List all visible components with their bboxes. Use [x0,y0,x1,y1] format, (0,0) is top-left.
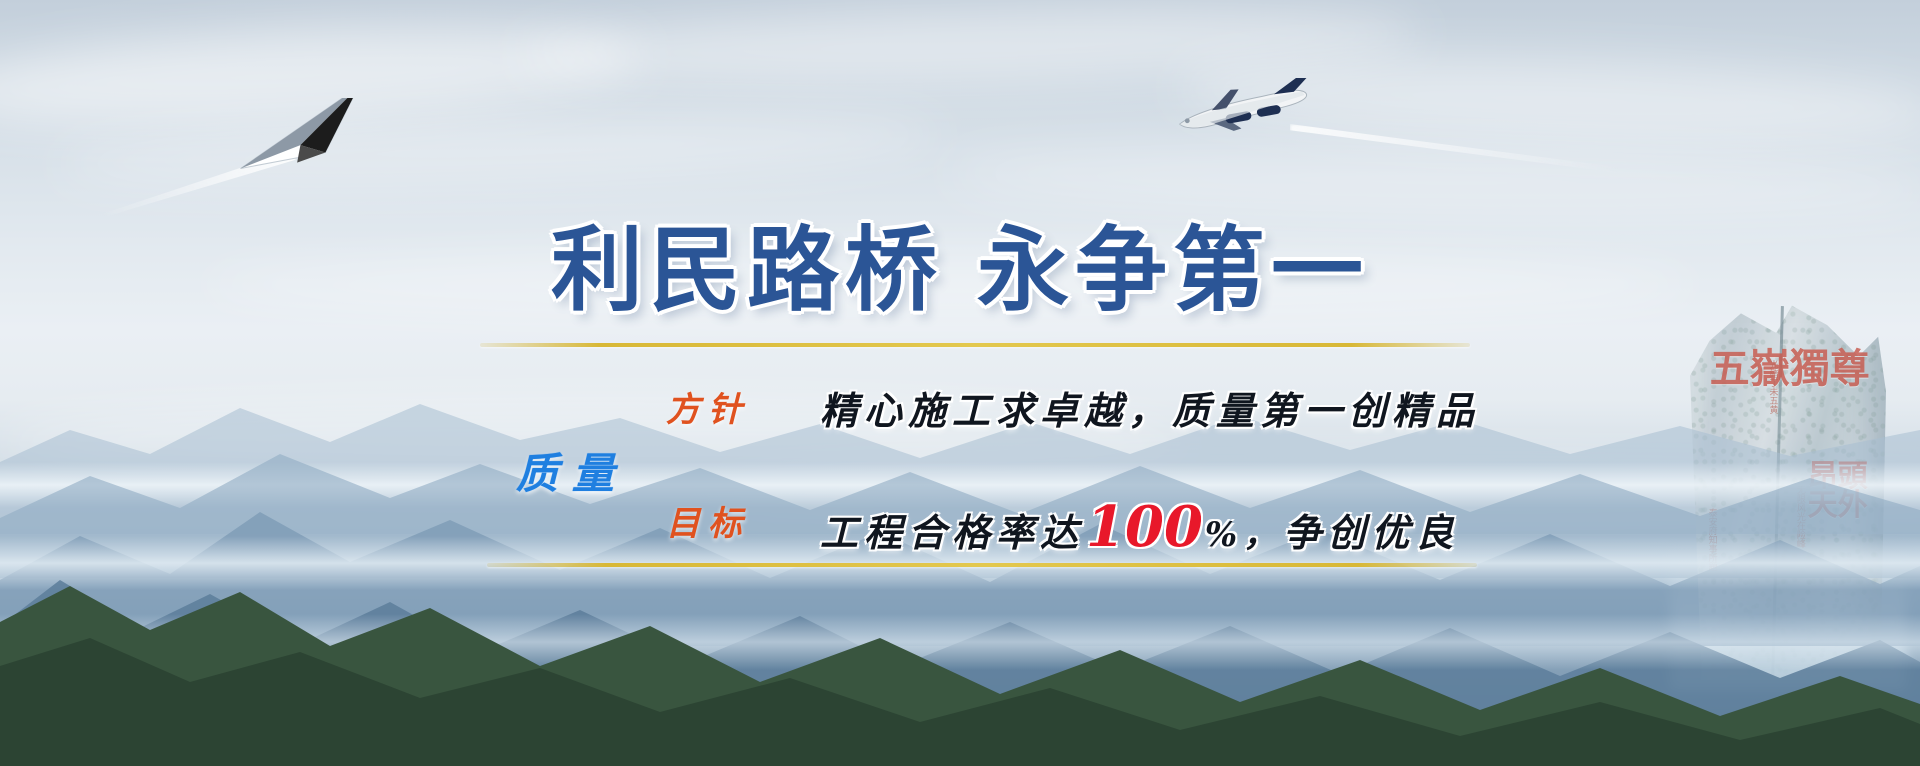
label-quality: 质量 [516,440,628,501]
slogan-goal-suffix: 争创优良 [1283,510,1459,555]
label-policy: 方针 [666,382,750,431]
label-goal: 目标 [666,496,750,545]
title-part-2: 永争第一 [977,217,1369,324]
divider-bottom [487,563,1477,567]
page-title: 利民路桥永争第一 [0,196,1920,329]
hero-banner: 五嶽獨尊 昂頭天外 光緒丁未五黄 泰安府知事所題 无限风光在险峰 [0,0,1920,766]
banner-content: 利民路桥永争第一 质量 方针 目标 精心施工求卓越，质量第一创精品 工程合格率达… [0,0,1920,766]
slogan-policy: 精心施工求卓越，质量第一创精品 [820,380,1480,435]
slogan-goal-percent: %， [1205,515,1283,555]
divider-top [480,343,1470,347]
slogan-goal: 工程合格率达100%，争创优良 [820,494,1459,560]
slogan-goal-number: 100 [1084,494,1205,560]
slogan-goal-prefix: 工程合格率达 [820,510,1084,555]
title-part-1: 利民路桥 [551,217,943,324]
